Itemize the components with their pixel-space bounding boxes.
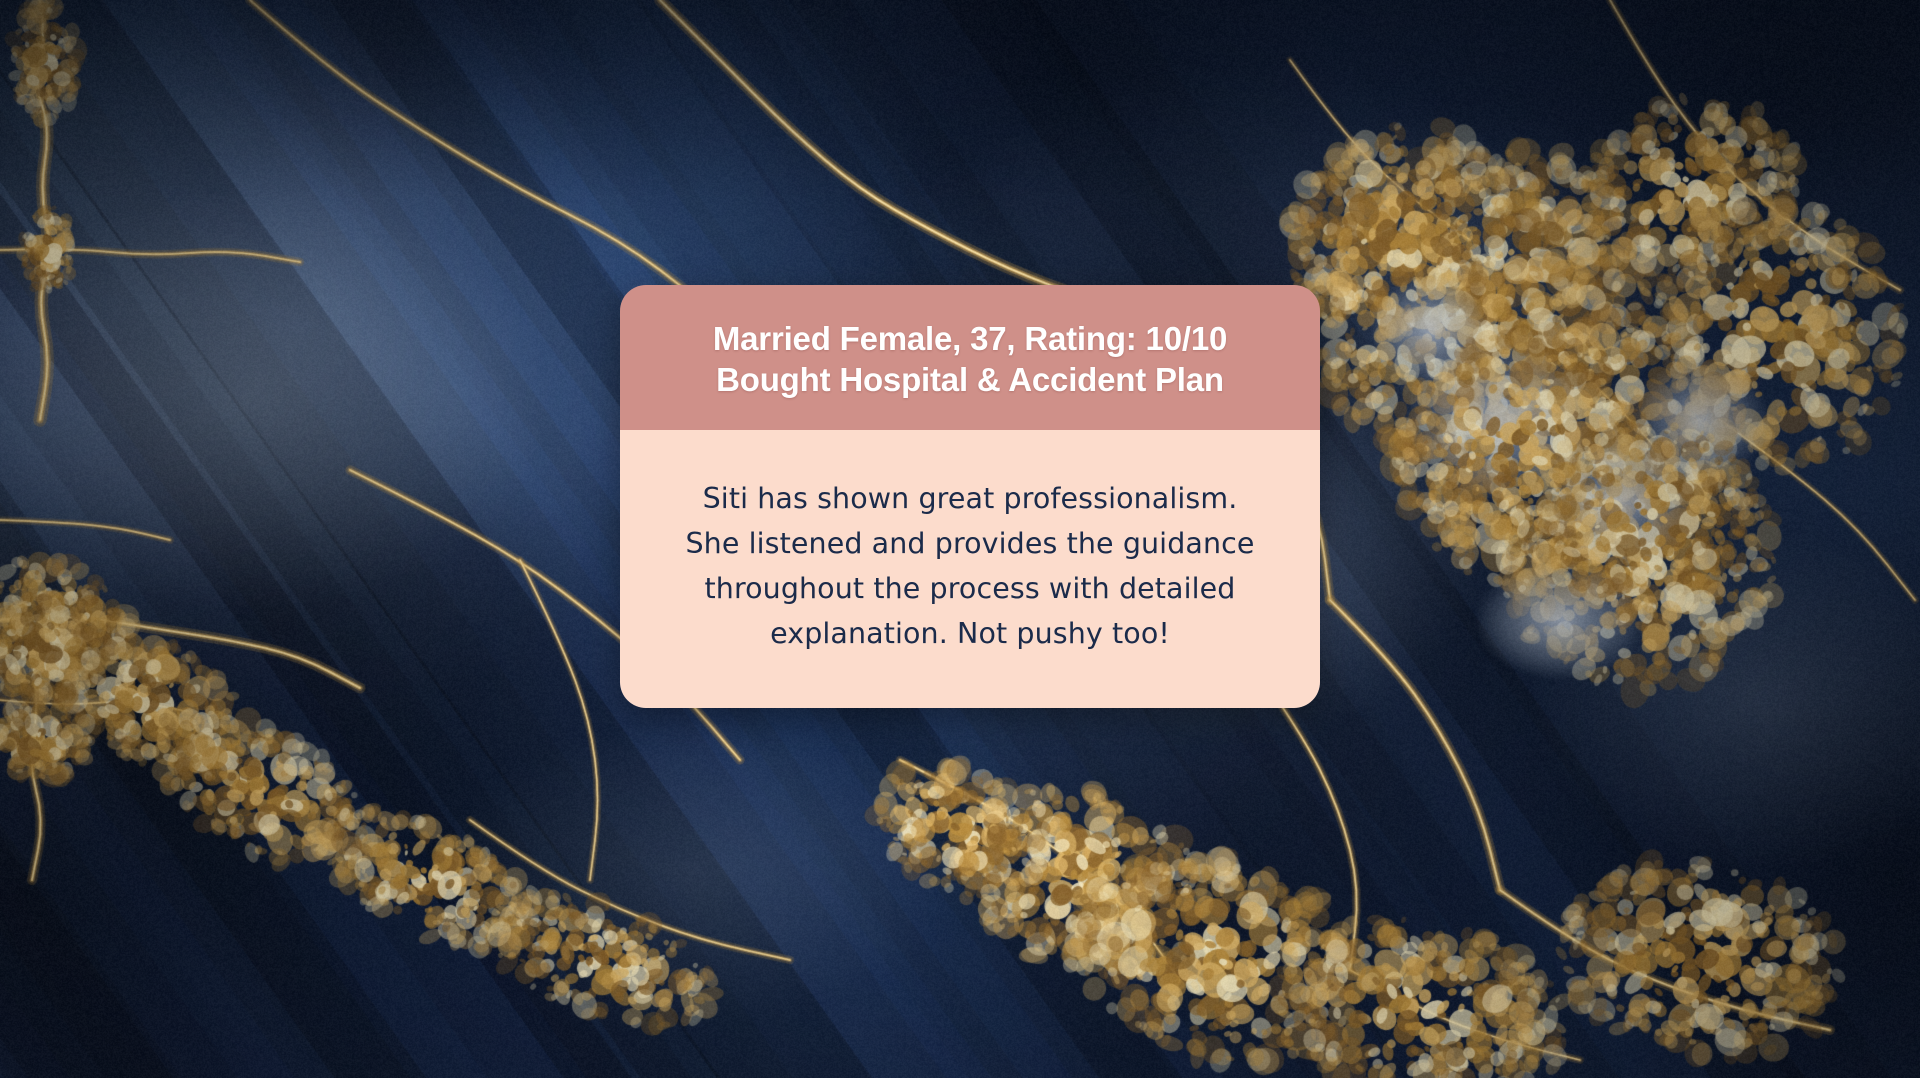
- testimonial-card-header: Married Female, 37, Rating: 10/10 Bought…: [620, 285, 1320, 430]
- testimonial-text-line-4: explanation. Not pushy too!: [664, 611, 1276, 656]
- testimonial-text-line-3: throughout the process with detailed: [664, 566, 1276, 611]
- testimonial-card-body: Siti has shown great professionalism. Sh…: [620, 430, 1320, 708]
- purchased-plan-line: Bought Hospital & Accident Plan: [650, 360, 1290, 401]
- customer-profile-line: Married Female, 37, Rating: 10/10: [650, 319, 1290, 360]
- testimonial-text-line-1: Siti has shown great professionalism.: [664, 476, 1276, 521]
- testimonial-text-line-2: She listened and provides the guidance: [664, 521, 1276, 566]
- testimonial-card: Married Female, 37, Rating: 10/10 Bought…: [620, 285, 1320, 708]
